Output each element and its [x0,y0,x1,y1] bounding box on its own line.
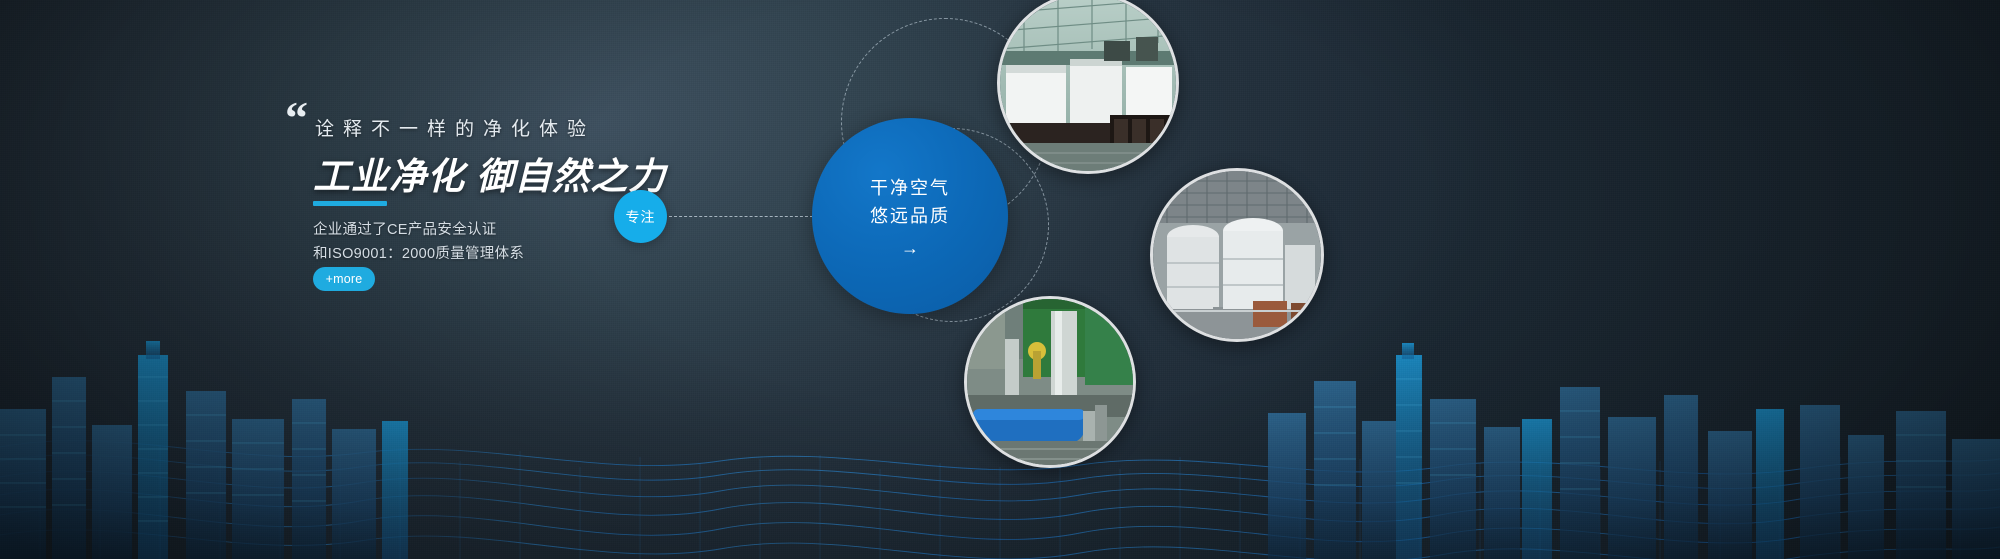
arrow-right-icon: → [901,239,919,257]
industrial-tanks-photo[interactable] [1150,168,1324,342]
hero-banner: “ 诠释不一样的净化体验 工业净化 御自然之力 企业通过了CE产品安全认证 和I… [0,0,2000,559]
main-circle[interactable]: 干净空气 悠远品质 → [812,118,1008,314]
pipeline-valves-image [967,299,1133,465]
industrial-tanks-image [1153,171,1321,339]
focus-badge[interactable]: 专注 [614,190,667,243]
pipeline-valves-photo[interactable] [964,296,1136,468]
main-circle-line-1: 干净空气 [870,175,950,203]
circle-diagram: 专注 干净空气 悠远品质 → [0,0,2000,559]
main-circle-line-2: 悠远品质 [870,203,950,231]
factory-equipment-photo[interactable] [997,0,1179,174]
dashed-connector-line [669,216,813,217]
factory-equipment-image [1000,0,1176,171]
